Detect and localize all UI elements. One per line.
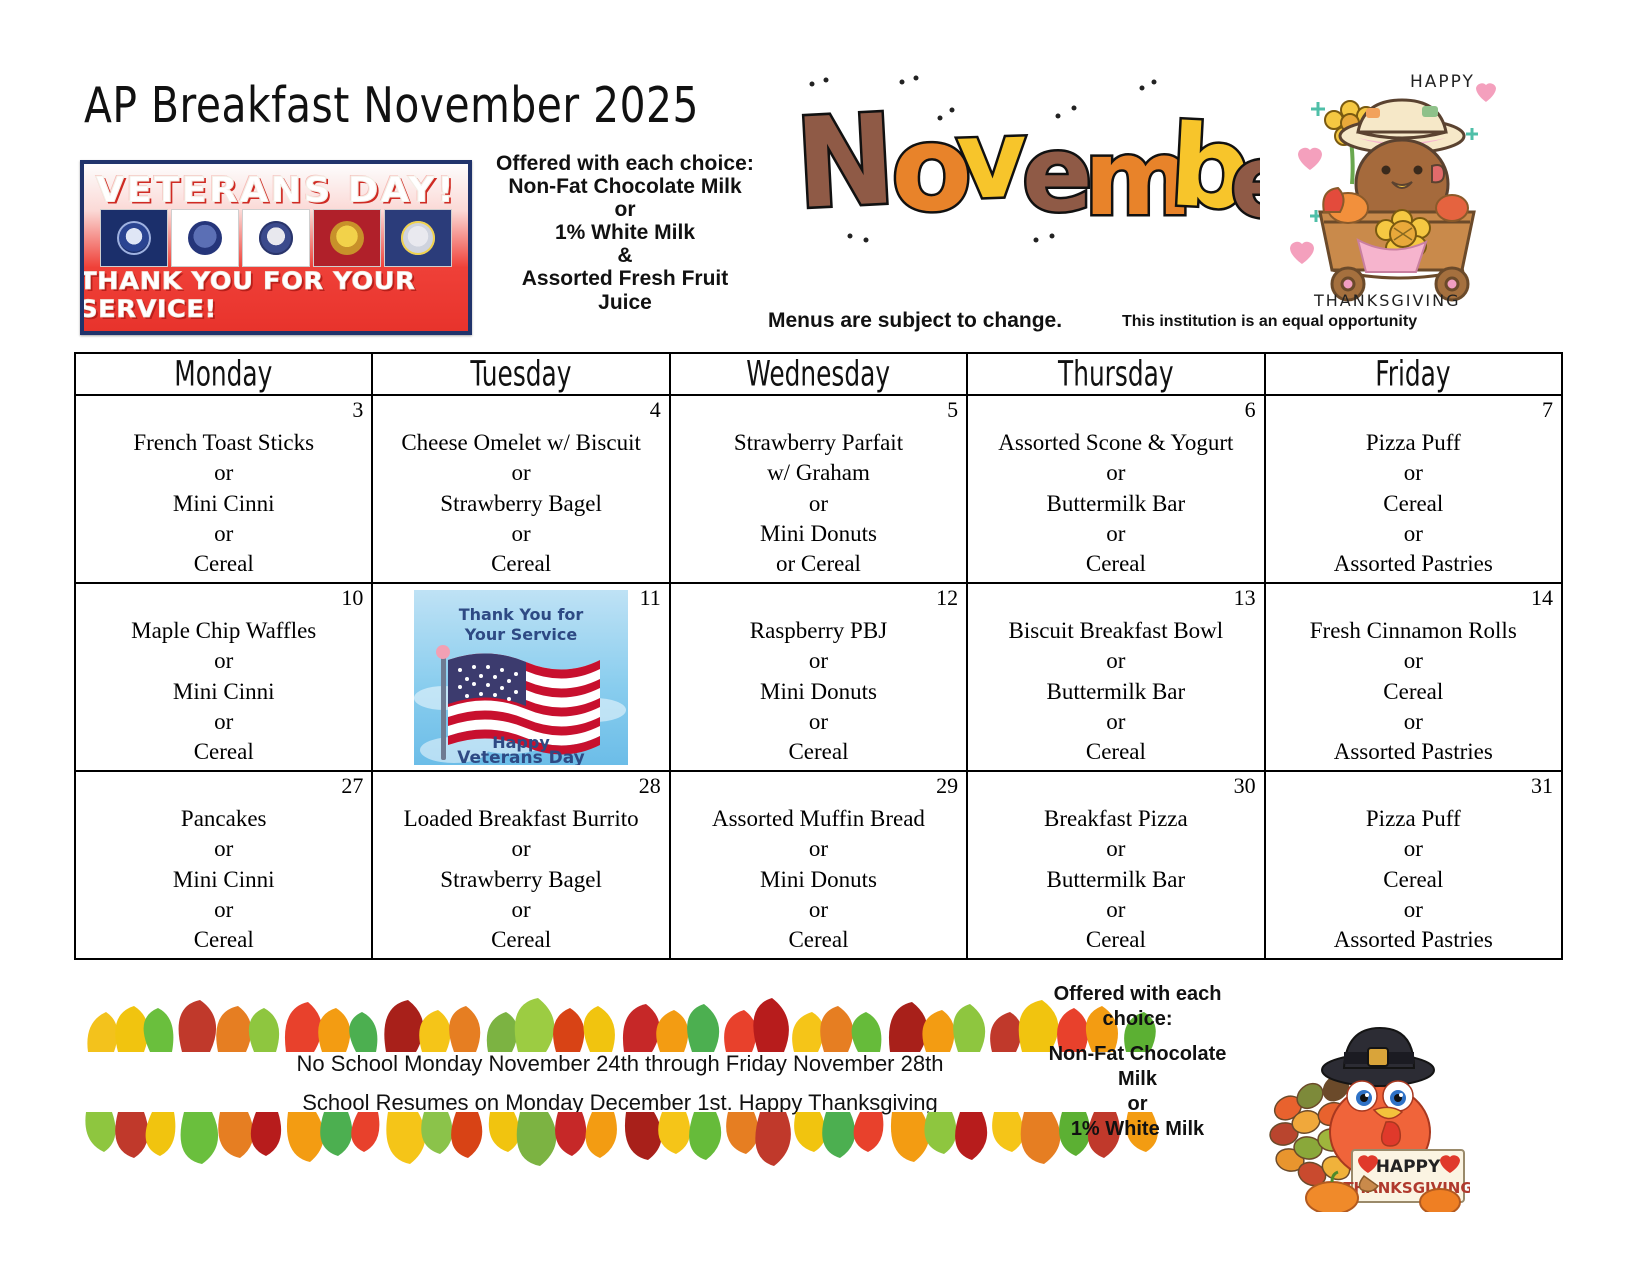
offered-top-line-6: Assorted Fresh Fruit <box>480 267 770 290</box>
menu-line: or <box>968 458 1263 488</box>
day-number: 27 <box>341 775 363 797</box>
pilgrim-turkey-image: HAPPY THANKSGIVING <box>1240 1012 1470 1212</box>
thanksgiving-turkey-cart-image: HAPPY <box>1262 62 1497 312</box>
autumn-leaves-border-bottom-image <box>78 1110 1168 1190</box>
day-number: 12 <box>936 587 958 609</box>
offered-top-line-3: or <box>480 198 770 221</box>
menu-line: or <box>1266 834 1561 864</box>
menu-line: or <box>76 458 371 488</box>
menu-items: Pizza Puff or Cereal or Assorted Pastrie… <box>1266 772 1561 956</box>
menu-line: Cereal <box>373 925 668 955</box>
army-flag-icon <box>171 209 239 267</box>
vetimg-line4: Veterans Day <box>457 748 585 765</box>
calendar-week-row: 27 Pancakes or Mini Cinni or Cereal 28 L… <box>75 771 1562 959</box>
menu-line: Mini Donuts <box>671 865 966 895</box>
menu-line: or <box>671 489 966 519</box>
menu-items: Assorted Scone & Yogurt or Buttermilk Ba… <box>968 396 1263 580</box>
day-number: 10 <box>341 587 363 609</box>
day-number: 13 <box>1234 587 1256 609</box>
menu-line: or <box>76 707 371 737</box>
day-number: 29 <box>936 775 958 797</box>
menu-line: or <box>671 834 966 864</box>
menu-line: Cereal <box>76 925 371 955</box>
menu-line: Cereal <box>373 549 668 579</box>
menu-line: Cereal <box>76 549 371 579</box>
breakfast-menu-calendar: Monday Tuesday Wednesday Thursday Friday… <box>74 352 1563 960</box>
day-number: 4 <box>650 399 661 421</box>
menu-line: Cereal <box>968 925 1263 955</box>
menu-items: French Toast Sticks or Mini Cinni or Cer… <box>76 396 371 580</box>
menu-line: French Toast Sticks <box>76 428 371 458</box>
navy-flag-icon <box>384 209 452 267</box>
offered-with-each-choice-bottom: Offered with each choice: Non-Fat Chocol… <box>1030 982 1245 1142</box>
menu-line: or <box>373 519 668 549</box>
menu-items: Breakfast Pizza or Buttermilk Bar or Cer… <box>968 772 1263 956</box>
calendar-day-cell[interactable]: 7 Pizza Puff or Cereal or Assorted Pastr… <box>1265 395 1562 583</box>
svg-text:e: e <box>1022 113 1093 235</box>
menu-line: or <box>1266 895 1561 925</box>
calendar-day-cell[interactable]: 27 Pancakes or Mini Cinni or Cereal <box>75 771 372 959</box>
menu-line: Cheese Omelet w/ Biscuit <box>373 428 668 458</box>
menu-line: or <box>1266 646 1561 676</box>
menu-line: Mini Donuts <box>671 519 966 549</box>
offered-top-line-1: Offered with each choice: <box>480 152 770 175</box>
menu-items: Assorted Muffin Bread or Mini Donuts or … <box>671 772 966 956</box>
menu-line: or <box>373 458 668 488</box>
offered-bottom-line-5: or <box>1030 1092 1245 1117</box>
menu-line: or <box>1266 707 1561 737</box>
svg-text:v: v <box>955 97 1030 224</box>
calendar-day-cell[interactable]: 5 Strawberry Parfait w/ Graham or Mini D… <box>670 395 967 583</box>
military-service-flags <box>92 209 460 267</box>
turkey-sign-line1: HAPPY <box>1376 1157 1441 1177</box>
calendar-day-cell[interactable]: 13 Biscuit Breakfast Bowl or Buttermilk … <box>967 583 1264 771</box>
menu-items: Strawberry Parfait w/ Graham or Mini Don… <box>671 396 966 580</box>
offered-top-line-2: Non-Fat Chocolate Milk <box>480 175 770 198</box>
calendar-day-cell[interactable]: 28 Loaded Breakfast Burrito or Strawberr… <box>372 771 669 959</box>
menu-line: Mini Cinni <box>76 489 371 519</box>
calendar-day-cell[interactable]: 3 French Toast Sticks or Mini Cinni or C… <box>75 395 372 583</box>
menu-page: AP Breakfast November 2025 VETERANS DAY!… <box>0 0 1650 1275</box>
menu-line: Assorted Pastries <box>1266 737 1561 767</box>
day-number: 30 <box>1234 775 1256 797</box>
menu-line: w/ Graham <box>671 458 966 488</box>
menu-line: Mini Donuts <box>671 677 966 707</box>
menu-line: Assorted Muffin Bread <box>671 804 966 834</box>
thanksgiving-label: THANKSGIVING <box>1313 291 1461 310</box>
menu-line: Strawberry Bagel <box>373 865 668 895</box>
menu-items: Cheese Omelet w/ Biscuit or Strawberry B… <box>373 396 668 580</box>
autumn-leaves-border-top-image <box>78 974 1168 1054</box>
marine-corps-flag-icon <box>313 209 381 267</box>
day-number: 5 <box>947 399 958 421</box>
menu-line: Pancakes <box>76 804 371 834</box>
menu-line: or <box>373 895 668 925</box>
menu-items: Raspberry PBJ or Mini Donuts or Cereal <box>671 584 966 768</box>
menu-line: Loaded Breakfast Burrito <box>373 804 668 834</box>
equal-opportunity-note: This institution is an equal opportunity <box>1122 313 1417 331</box>
menu-line: or <box>76 519 371 549</box>
menu-line: Assorted Scone & Yogurt <box>968 428 1263 458</box>
svg-text:N: N <box>792 87 898 236</box>
calendar-day-cell[interactable]: 29 Assorted Muffin Bread or Mini Donuts … <box>670 771 967 959</box>
day-header-friday: Friday <box>1265 353 1562 395</box>
menu-items: Maple Chip Waffles or Mini Cinni or Cere… <box>76 584 371 768</box>
offered-bottom-line-2: choice: <box>1030 1007 1245 1032</box>
menu-line: or <box>373 834 668 864</box>
day-header-monday: Monday <box>75 353 372 395</box>
menu-line: Mini Cinni <box>76 677 371 707</box>
offered-with-each-choice-top: Offered with each choice: Non-Fat Chocol… <box>480 152 770 314</box>
offered-bottom-line-1: Offered with each <box>1030 982 1245 1007</box>
menu-line: or <box>968 519 1263 549</box>
veterans-day-banner-top-text: VETERANS DAY! <box>96 169 456 210</box>
day-number: 7 <box>1542 399 1553 421</box>
thanksgiving-happy-label: HAPPY <box>1410 72 1475 92</box>
menu-line: Pizza Puff <box>1266 804 1561 834</box>
day-number: 3 <box>352 399 363 421</box>
menu-line: or <box>671 895 966 925</box>
menu-line: Pizza Puff <box>1266 428 1561 458</box>
calendar-header-row: Monday Tuesday Wednesday Thursday Friday <box>75 353 1562 395</box>
calendar-day-cell[interactable]: 31 Pizza Puff or Cereal or Assorted Past… <box>1265 771 1562 959</box>
menus-subject-to-change-note: Menus are subject to change. <box>768 309 1062 333</box>
menu-line: or <box>671 646 966 676</box>
menu-line: Biscuit Breakfast Bowl <box>968 616 1263 646</box>
calendar-day-cell[interactable]: 10 Maple Chip Waffles or Mini Cinni or C… <box>75 583 372 771</box>
day-header-wednesday: Wednesday <box>670 353 967 395</box>
menu-line: or <box>76 646 371 676</box>
menu-line: Cereal <box>1266 489 1561 519</box>
calendar-day-cell[interactable]: 12 Raspberry PBJ or Mini Donuts or Cerea… <box>670 583 967 771</box>
calendar-day-cell[interactable]: 30 Breakfast Pizza or Buttermilk Bar or … <box>967 771 1264 959</box>
day-number: 6 <box>1245 399 1256 421</box>
menu-line: Cereal <box>76 737 371 767</box>
day-number: 31 <box>1531 775 1553 797</box>
no-school-line: No School Monday November 24th through F… <box>110 1045 1130 1084</box>
calendar-day-cell[interactable]: 6 Assorted Scone & Yogurt or Buttermilk … <box>967 395 1264 583</box>
menu-line: Maple Chip Waffles <box>76 616 371 646</box>
menu-items: Biscuit Breakfast Bowl or Buttermilk Bar… <box>968 584 1263 768</box>
menu-items: Pancakes or Mini Cinni or Cereal <box>76 772 371 956</box>
offered-top-line-5: & <box>480 244 770 267</box>
vetimg-line2: Your Service <box>464 625 578 644</box>
veterans-day-banner-image: VETERANS DAY! THANK YOU FOR YOUR SERVICE… <box>80 160 472 335</box>
menu-line: Breakfast Pizza <box>968 804 1263 834</box>
vetimg-line1: Thank You for <box>459 605 584 624</box>
air-force-flag-icon <box>100 209 168 267</box>
offered-top-line-7: Juice <box>480 291 770 314</box>
menu-line: Cereal <box>671 925 966 955</box>
menu-line: Raspberry PBJ <box>671 616 966 646</box>
day-number: 28 <box>639 775 661 797</box>
menu-line: Mini Cinni <box>76 865 371 895</box>
offered-bottom-line-3: Non-Fat Chocolate <box>1030 1042 1245 1067</box>
menu-items: Loaded Breakfast Burrito or Strawberry B… <box>373 772 668 956</box>
menu-line: Strawberry Bagel <box>373 489 668 519</box>
menu-items: Pizza Puff or Cereal or Assorted Pastrie… <box>1266 396 1561 580</box>
coast-guard-flag-icon <box>242 209 310 267</box>
calendar-day-cell-veterans-day[interactable]: 11 <box>372 583 669 771</box>
menu-line: Fresh Cinnamon Rolls <box>1266 616 1561 646</box>
november-wordart-image: N o v e m b e <box>790 58 1260 248</box>
menu-line: or <box>1266 458 1561 488</box>
menu-line: or <box>76 895 371 925</box>
calendar-day-cell[interactable]: 4 Cheese Omelet w/ Biscuit or Strawberry… <box>372 395 669 583</box>
menu-line: Buttermilk Bar <box>968 865 1263 895</box>
calendar-day-cell[interactable]: 14 Fresh Cinnamon Rolls or Cereal or Ass… <box>1265 583 1562 771</box>
menu-line: Buttermilk Bar <box>968 489 1263 519</box>
offered-bottom-line-6: 1% White Milk <box>1030 1117 1245 1142</box>
menu-line: or <box>76 834 371 864</box>
menu-line: Cereal <box>1266 677 1561 707</box>
menu-line: or <box>968 707 1263 737</box>
veterans-day-flag-image: Thank You for Your Service <box>414 590 628 765</box>
menu-line: Cereal <box>1266 865 1561 895</box>
calendar-week-row: 3 French Toast Sticks or Mini Cinni or C… <box>75 395 1562 583</box>
day-number: 14 <box>1531 587 1553 609</box>
day-number: 11 <box>640 587 661 609</box>
menu-line: Buttermilk Bar <box>968 677 1263 707</box>
menu-line: or <box>671 707 966 737</box>
day-header-tuesday: Tuesday <box>372 353 669 395</box>
offered-bottom-line-4: Milk <box>1030 1067 1245 1092</box>
menu-line: Cereal <box>671 737 966 767</box>
menu-line: or Cereal <box>671 549 966 579</box>
menu-items: Fresh Cinnamon Rolls or Cereal or Assort… <box>1266 584 1561 768</box>
menu-line: Assorted Pastries <box>1266 549 1561 579</box>
menu-line: or <box>1266 519 1561 549</box>
veterans-day-banner-bottom-text: THANK YOU FOR YOUR SERVICE! <box>80 267 472 323</box>
menu-line: Strawberry Parfait <box>671 428 966 458</box>
menu-line: or <box>968 646 1263 676</box>
menu-line: or <box>968 895 1263 925</box>
offered-top-line-4: 1% White Milk <box>480 221 770 244</box>
page-title: AP Breakfast November 2025 <box>84 78 699 134</box>
svg-text:e: e <box>1230 123 1260 240</box>
day-header-thursday: Thursday <box>967 353 1264 395</box>
calendar-week-row: 10 Maple Chip Waffles or Mini Cinni or C… <box>75 583 1562 771</box>
menu-line: Cereal <box>968 737 1263 767</box>
menu-line: Assorted Pastries <box>1266 925 1561 955</box>
menu-line: or <box>968 834 1263 864</box>
menu-line: Cereal <box>968 549 1263 579</box>
